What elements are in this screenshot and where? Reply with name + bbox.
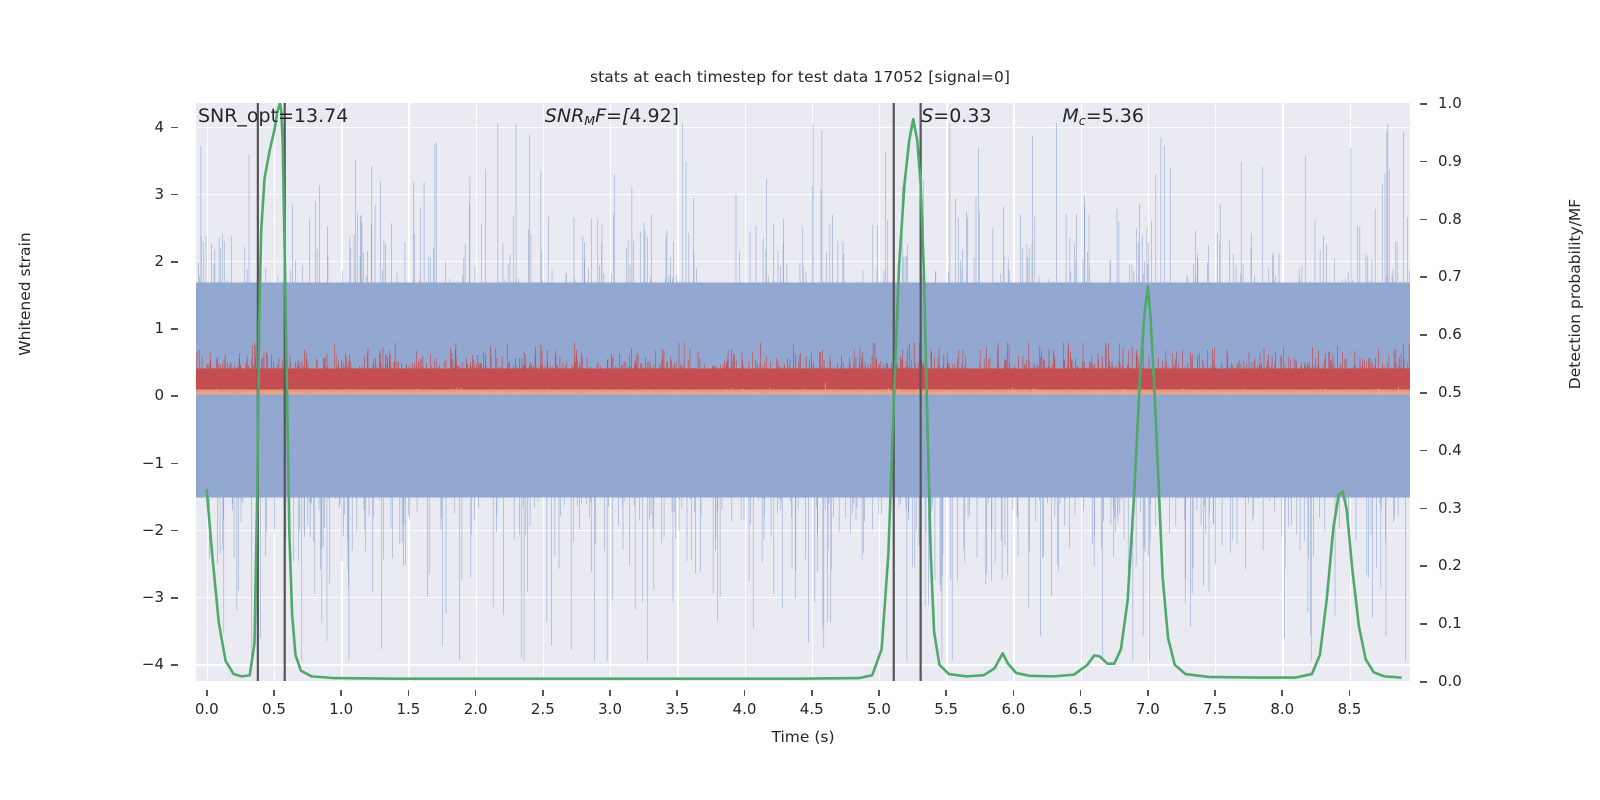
x-tick-mark	[945, 690, 947, 696]
y-tick-mark-right	[1420, 219, 1427, 221]
x-tick-mark	[811, 690, 813, 696]
x-tick-label: 0.0	[195, 700, 219, 718]
y-tick-mark-left	[171, 597, 178, 599]
x-tick-label: 6.5	[1069, 700, 1093, 718]
y-tick-mark-left	[171, 127, 178, 129]
x-tick-mark	[744, 690, 746, 696]
x-tick-mark	[1147, 690, 1149, 696]
y-axis-left-ticks: 43210−1−2−3−4	[130, 103, 178, 681]
x-tick-mark	[609, 690, 611, 696]
figure-canvas: stats at each timestep for test data 170…	[0, 0, 1600, 800]
plot-svg	[196, 103, 1410, 681]
x-tick-mark	[1349, 690, 1351, 696]
x-tick-label: 5.5	[934, 700, 958, 718]
x-tick-label: 2.5	[531, 700, 555, 718]
y-tick-mark-right	[1420, 161, 1427, 163]
y-tick-label-right: 1.0	[1438, 94, 1462, 112]
annotation-snr-mf: SNRMF=[4.92]	[545, 105, 679, 128]
y-tick-label-left: −3	[142, 588, 164, 606]
y-tick-label-left: 0	[154, 386, 164, 404]
x-tick-label: 6.0	[1001, 700, 1025, 718]
x-tick-label: 7.0	[1136, 700, 1160, 718]
y-tick-label-right: 0.9	[1438, 152, 1462, 170]
y-tick-mark-right	[1420, 565, 1427, 567]
x-tick-label: 2.0	[464, 700, 488, 718]
x-tick-label: 4.0	[733, 700, 757, 718]
annotation-snr-opt: SNR_opt=13.74	[198, 105, 348, 127]
y-tick-label-left: −2	[142, 521, 164, 539]
x-axis-label: Time (s)	[196, 728, 1410, 746]
x-tick-mark	[1214, 690, 1216, 696]
x-tick-label: 8.0	[1270, 700, 1294, 718]
x-tick-label: 3.0	[598, 700, 622, 718]
x-tick-label: 7.5	[1203, 700, 1227, 718]
y-tick-mark-left	[171, 261, 178, 263]
y-tick-mark-right	[1420, 623, 1427, 625]
y-tick-mark-right	[1420, 508, 1427, 510]
x-tick-mark	[475, 690, 477, 696]
y-tick-label-right: 0.3	[1438, 499, 1462, 517]
x-tick-mark	[273, 690, 275, 696]
x-tick-label: 1.5	[396, 700, 420, 718]
chart-title: stats at each timestep for test data 170…	[0, 68, 1600, 86]
y-tick-label-right: 0.8	[1438, 210, 1462, 228]
x-tick-label: 1.0	[329, 700, 353, 718]
y-tick-mark-left	[171, 328, 178, 330]
x-tick-mark	[1080, 690, 1082, 696]
y-tick-label-right: 0.5	[1438, 383, 1462, 401]
x-axis-ticks: 0.00.51.01.52.02.53.03.54.04.55.05.56.06…	[196, 690, 1410, 718]
x-tick-mark	[206, 690, 208, 696]
x-tick-mark	[542, 690, 544, 696]
y-axis-left-label: Whitened strain	[16, 164, 34, 424]
y-tick-label-right: 0.2	[1438, 556, 1462, 574]
x-tick-label: 3.5	[665, 700, 689, 718]
y-tick-label-right: 0.0	[1438, 672, 1462, 690]
y-tick-mark-right	[1420, 276, 1427, 278]
annotation-s-statistic: S=0.33	[921, 105, 991, 127]
y-tick-label-right: 0.1	[1438, 614, 1462, 632]
y-tick-label-left: 1	[154, 319, 164, 337]
y-tick-mark-left	[171, 463, 178, 465]
y-axis-right-label: Detection probability/MF	[1566, 114, 1584, 474]
y-tick-label-left: 4	[154, 118, 164, 136]
x-tick-mark	[1013, 690, 1015, 696]
x-tick-label: 8.5	[1338, 700, 1362, 718]
y-tick-label-right: 0.4	[1438, 441, 1462, 459]
x-tick-label: 0.5	[262, 700, 286, 718]
y-tick-label-left: 3	[154, 185, 164, 203]
plot-area[interactable]: SNR_opt=13.74 SNRMF=[4.92] S=0.33 Mc=5.3…	[196, 103, 1410, 681]
y-tick-label-right: 0.7	[1438, 267, 1462, 285]
y-tick-label-left: −1	[142, 454, 164, 472]
x-tick-mark	[408, 690, 410, 696]
y-tick-label-right: 0.6	[1438, 325, 1462, 343]
y-tick-mark-right	[1420, 450, 1427, 452]
x-tick-mark	[878, 690, 880, 696]
y-tick-label-left: 2	[154, 252, 164, 270]
y-tick-mark-right	[1420, 103, 1427, 105]
y-tick-mark-right	[1420, 334, 1427, 336]
y-tick-mark-left	[171, 530, 178, 532]
annotation-chirp-mass: Mc=5.36	[1062, 105, 1144, 128]
x-tick-label: 4.5	[800, 700, 824, 718]
y-tick-mark-right	[1420, 681, 1427, 683]
y-axis-right-ticks: 1.00.90.80.70.60.50.40.30.20.10.0	[1420, 103, 1480, 681]
x-tick-mark	[340, 690, 342, 696]
y-tick-label-left: −4	[142, 655, 164, 673]
y-tick-mark-left	[171, 395, 178, 397]
x-tick-label: 5.0	[867, 700, 891, 718]
y-tick-mark-right	[1420, 392, 1427, 394]
y-tick-mark-left	[171, 194, 178, 196]
y-tick-mark-left	[171, 664, 178, 666]
mf-core-band	[196, 368, 1410, 392]
x-tick-mark	[1281, 690, 1283, 696]
x-tick-mark	[676, 690, 678, 696]
